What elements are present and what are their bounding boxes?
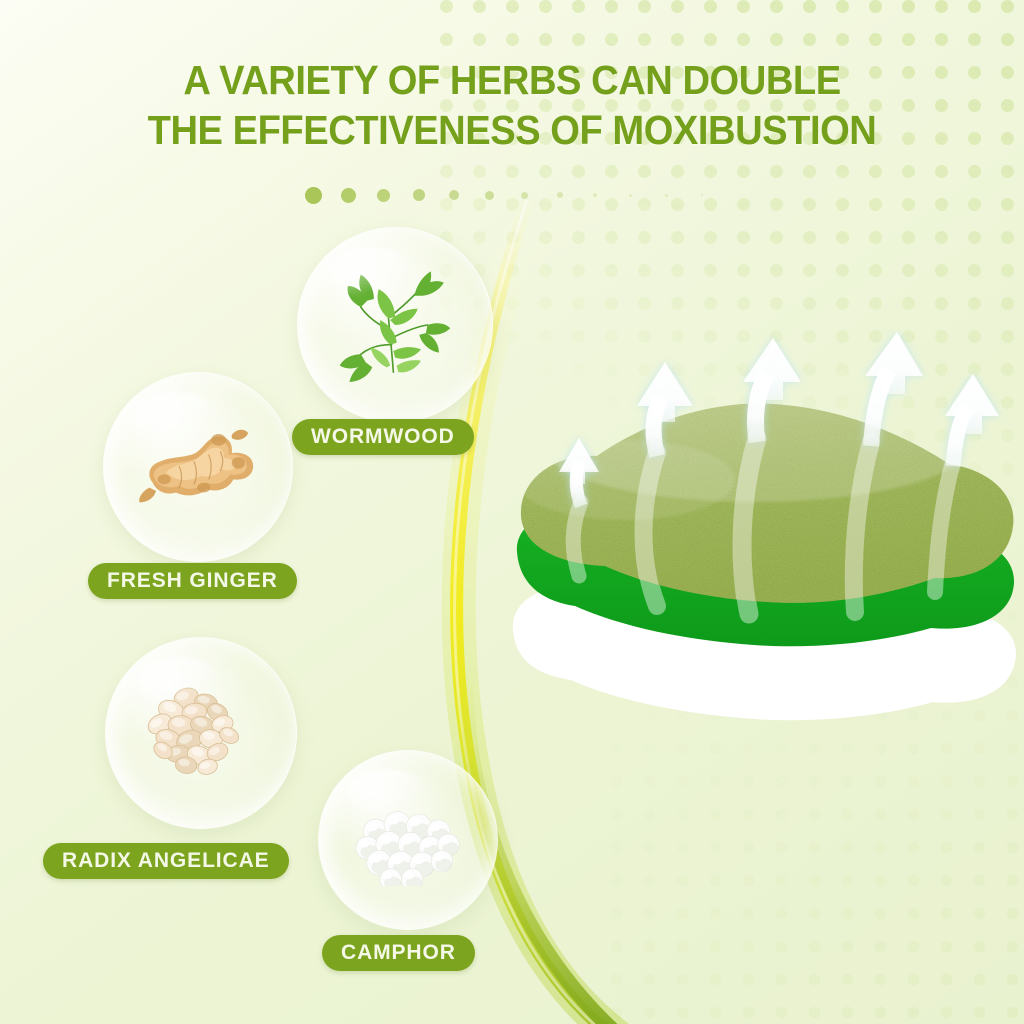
decorative-dot	[485, 191, 494, 200]
ginger-root-icon	[104, 373, 292, 561]
ingredient-label-fresh-ginger: FRESH GINGER	[88, 563, 297, 599]
page-title: A VARIETY OF HERBS CAN DOUBLE THE EFFECT…	[36, 55, 988, 155]
decorative-dot	[377, 189, 390, 202]
ingredient-label-wormwood: WORMWOOD	[292, 419, 474, 455]
infographic-poster: A VARIETY OF HERBS CAN DOUBLE THE EFFECT…	[0, 0, 1024, 1024]
decorative-dot	[701, 194, 703, 196]
ingredient-bubble-camphor	[318, 750, 498, 930]
decorative-dot	[413, 189, 425, 201]
wormwood-leaves-icon	[298, 228, 492, 422]
ingredient-bubble-fresh-ginger	[103, 372, 293, 562]
decorative-dot	[629, 194, 632, 197]
decorative-dot	[341, 188, 356, 203]
decorative-dot	[305, 187, 322, 204]
decorative-dot-row	[305, 182, 737, 208]
decorative-dot	[593, 193, 597, 197]
decorative-dot	[521, 192, 528, 199]
ingredient-label-camphor: CAMPHOR	[322, 935, 475, 971]
heat-vapor-arrow	[945, 374, 999, 466]
page-title-line-2: THE EFFECTIVENESS OF MOXIBUSTION	[36, 105, 988, 155]
angelica-root-slices-icon	[106, 638, 296, 828]
ingredient-bubble-radix-angelicae	[105, 637, 297, 829]
decorative-dot	[557, 192, 563, 198]
decorative-dot	[665, 194, 668, 197]
page-title-line-1: A VARIETY OF HERBS CAN DOUBLE	[36, 55, 988, 105]
heat-vapor-arrow	[865, 332, 923, 446]
ingredient-bubble-wormwood	[297, 227, 493, 423]
camphor-ball	[431, 850, 452, 871]
ingredient-label-radix-angelicae: RADIX ANGELICAE	[43, 843, 289, 879]
camphor-balls-icon	[319, 751, 497, 929]
moxibustion-herbal-patch	[505, 330, 1024, 800]
decorative-dot	[449, 190, 459, 200]
